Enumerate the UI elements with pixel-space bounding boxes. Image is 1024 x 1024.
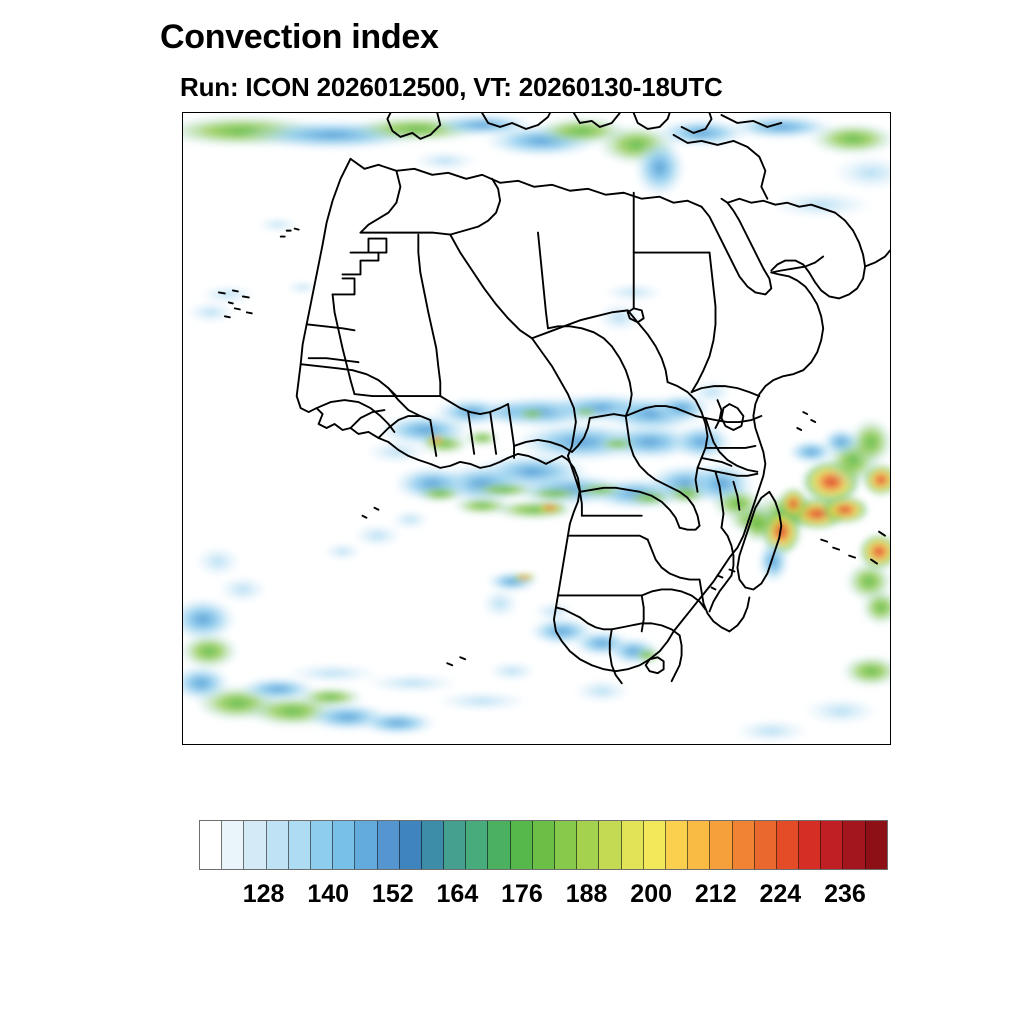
colorbar-segment-30 [866, 821, 887, 869]
colorbar-segment-27 [799, 821, 821, 869]
convection-index-figure: Convection index Run: ICON 2026012500, V… [0, 0, 1024, 1024]
colorbar-segment-24 [733, 821, 755, 869]
colorbar-segment-17 [577, 821, 599, 869]
colorbar-segment-15 [533, 821, 555, 869]
colorbar-segment-20 [644, 821, 666, 869]
colorbar-segment-7 [355, 821, 377, 869]
page-title: Convection index [160, 18, 439, 57]
colorbar-segment-22 [688, 821, 710, 869]
map-canvas [183, 113, 890, 744]
colorbar-segment-14 [511, 821, 533, 869]
colorbar-segment-1 [222, 821, 244, 869]
colorbar-segment-10 [422, 821, 444, 869]
colorbar-segment-9 [400, 821, 422, 869]
colorbar-segment-2 [244, 821, 266, 869]
colorbar-segment-21 [666, 821, 688, 869]
colorbar-segment-5 [311, 821, 333, 869]
colorbar-segment-6 [333, 821, 355, 869]
colorbar-segment-13 [488, 821, 510, 869]
colorbar-segment-8 [378, 821, 400, 869]
colorbar-segment-16 [555, 821, 577, 869]
colorbar-segment-23 [710, 821, 732, 869]
colorbar-segment-19 [622, 821, 644, 869]
colorbar-segment-3 [267, 821, 289, 869]
colorbar-segment-25 [755, 821, 777, 869]
map-plot-area: 30N 0 30S 30W 0 30E 60E [182, 112, 891, 745]
colorbar-segment-0 [200, 821, 222, 869]
colorbar-segment-18 [599, 821, 621, 869]
colorbar [199, 820, 888, 870]
colorbar-segment-28 [821, 821, 843, 869]
colorbar-segment-29 [843, 821, 865, 869]
colorbar-segment-12 [466, 821, 488, 869]
colorbar-segment-11 [444, 821, 466, 869]
run-valid-time-subtitle: Run: ICON 2026012500, VT: 20260130-18UTC [180, 72, 723, 103]
colorbar-label-236: 236 [805, 880, 885, 909]
colorbar-tick-labels: 128140152164176188200212224236 [199, 880, 888, 914]
colorbar-segment-4 [289, 821, 311, 869]
colorbar-segment-26 [777, 821, 799, 869]
